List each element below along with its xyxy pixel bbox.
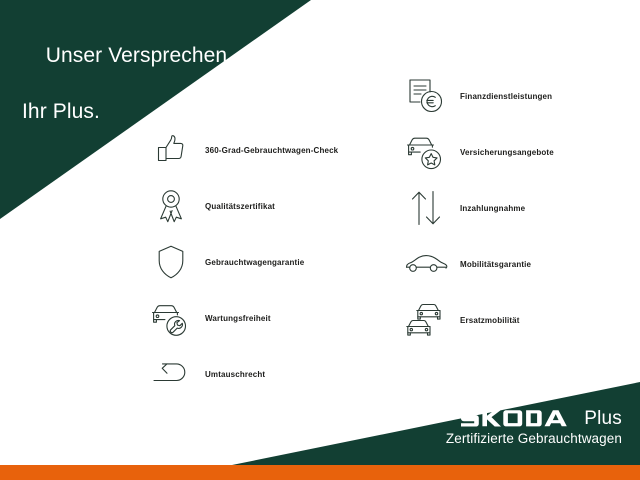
feature-item: Umtauschrecht xyxy=(145,346,338,402)
headline-line-1: Unser Versprechen. xyxy=(46,44,233,67)
return-arrow-icon xyxy=(145,351,197,397)
logo-plus-text: Plus xyxy=(584,409,622,428)
feature-label: Versicherungsangebote xyxy=(460,148,554,157)
logo-row: Plus xyxy=(446,407,622,428)
two-cars-icon xyxy=(400,297,452,343)
car-star-icon xyxy=(400,129,452,175)
feature-label: Gebrauchtwagengarantie xyxy=(205,258,304,267)
feature-label: Qualitätszertifikat xyxy=(205,202,275,211)
feature-label: Ersatzmobilität xyxy=(460,316,520,325)
feature-item: Gebrauchtwagengarantie xyxy=(145,234,338,290)
bottom-orange-bar xyxy=(0,465,640,480)
feature-item: Finanzdienstleistungen xyxy=(400,68,554,124)
up-down-arrows-icon xyxy=(400,185,452,231)
shield-icon xyxy=(145,239,197,285)
car-wrench-icon xyxy=(145,295,197,341)
feature-item: Qualitätszertifikat xyxy=(145,178,338,234)
thumbs-up-icon xyxy=(145,127,197,173)
document-euro-icon xyxy=(400,73,452,119)
feature-label: 360-Grad-Gebrauchtwagen-Check xyxy=(205,146,338,155)
promo-banner: Unser Versprechen. Ihr Plus. 360-Grad-Ge… xyxy=(0,0,640,480)
feature-item: Wartungsfreiheit xyxy=(145,290,338,346)
feature-label: Finanzdienstleistungen xyxy=(460,92,552,101)
feature-label: Wartungsfreiheit xyxy=(205,314,271,323)
feature-label: Mobilitätsgarantie xyxy=(460,260,531,269)
skoda-plus-logo: Plus Zertifizierte Gebrauchtwagen xyxy=(446,407,622,447)
feature-item: Ersatzmobilität xyxy=(400,292,554,348)
award-rosette-icon xyxy=(145,183,197,229)
feature-item: Inzahlungnahme xyxy=(400,180,554,236)
skoda-wordmark xyxy=(459,407,577,428)
car-side-icon xyxy=(400,241,452,287)
feature-label: Inzahlungnahme xyxy=(460,204,525,213)
feature-item: Versicherungsangebote xyxy=(400,124,554,180)
feature-list-right: Finanzdienstleistungen Versicherungsange… xyxy=(400,68,554,348)
feature-label: Umtauschrecht xyxy=(205,370,265,379)
logo-subtitle: Zertifizierte Gebrauchtwagen xyxy=(446,431,622,447)
feature-item: Mobilitätsgarantie xyxy=(400,236,554,292)
feature-item: 360-Grad-Gebrauchtwagen-Check xyxy=(145,122,338,178)
feature-list-left: 360-Grad-Gebrauchtwagen-Check Qualitätsz… xyxy=(145,122,338,402)
